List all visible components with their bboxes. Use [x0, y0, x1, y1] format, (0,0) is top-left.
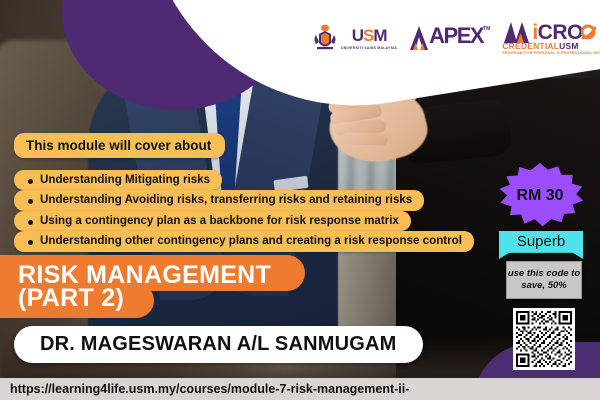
- usm-crest-icon: [312, 23, 338, 53]
- micro-subtitle: CREDENTIALUSM: [502, 42, 600, 51]
- bullet-dot-icon: [28, 220, 33, 225]
- bullet-text: Understanding other contingency plans an…: [40, 234, 462, 248]
- logo-bar: USM UNIVERSITI SAINS MALAYSIA APEX TM iC…: [312, 18, 600, 58]
- qr-code-icon[interactable]: [513, 308, 575, 370]
- bullet-text: Understanding Mitigating risks: [40, 173, 210, 187]
- ribbon-label: Superb: [517, 231, 565, 252]
- micro-credential-logo: iCRO CREDENTIALUSM PROGRAM FOR PERSONAL …: [502, 20, 600, 55]
- usm-logo: USM UNIVERSITI SAINS MALAYSIA: [312, 23, 397, 53]
- url-bar: https://learning4life.usm.my/courses/mod…: [0, 378, 600, 400]
- list-item: Understanding other contingency plans an…: [14, 231, 474, 251]
- poster-title-line2: (PART 2): [0, 283, 154, 318]
- apex-logo: APEX TM: [409, 25, 490, 51]
- usm-full-name: UNIVERSITI SAINS MALAYSIA: [341, 46, 397, 50]
- micro-swoosh-icon: [581, 24, 596, 40]
- price-label: RM 30: [516, 187, 563, 205]
- apex-mountain-icon: [409, 25, 429, 51]
- promo-poster: USM UNIVERSITI SAINS MALAYSIA APEX TM iC…: [0, 0, 600, 400]
- apex-wordmark: APEX: [429, 25, 483, 47]
- list-item: Using a contingency plan as a backbone f…: [14, 211, 411, 231]
- promo-code-text: use this code to save, 50%: [507, 268, 581, 292]
- bullet-text: Using a contingency plan as a backbone f…: [40, 214, 399, 228]
- micro-tagline: PROGRAM FOR PERSONAL & PROFESSIONAL DEVE…: [502, 52, 600, 56]
- apex-trademark: TM: [483, 26, 490, 32]
- bullet-dot-icon: [28, 179, 33, 184]
- course-url[interactable]: https://learning4life.usm.my/courses/mod…: [10, 382, 409, 396]
- usm-wordmark: USM UNIVERSITI SAINS MALAYSIA: [341, 27, 397, 50]
- micro-letter-i: iCRO: [532, 22, 583, 43]
- list-item: Understanding Avoiding risks, transferri…: [14, 190, 424, 210]
- list-item: Understanding Mitigating risks: [14, 170, 222, 190]
- bullet-list: Understanding Mitigating risks Understan…: [14, 152, 484, 252]
- promo-code-note: use this code to save, 50%: [506, 261, 582, 299]
- speaker-bar: DR. MAGESWARAN A/L SANMUGAM: [14, 326, 423, 363]
- photo-finger: [342, 132, 388, 146]
- bullet-dot-icon: [28, 199, 33, 204]
- page-subtitle: (PART 2): [18, 285, 124, 311]
- usm-abbreviation: USM: [352, 27, 387, 44]
- bullet-dot-icon: [28, 240, 33, 245]
- speaker-name: DR. MAGESWARAN A/L SANMUGAM: [40, 333, 397, 356]
- bullet-text: Understanding Avoiding risks, transferri…: [40, 193, 412, 207]
